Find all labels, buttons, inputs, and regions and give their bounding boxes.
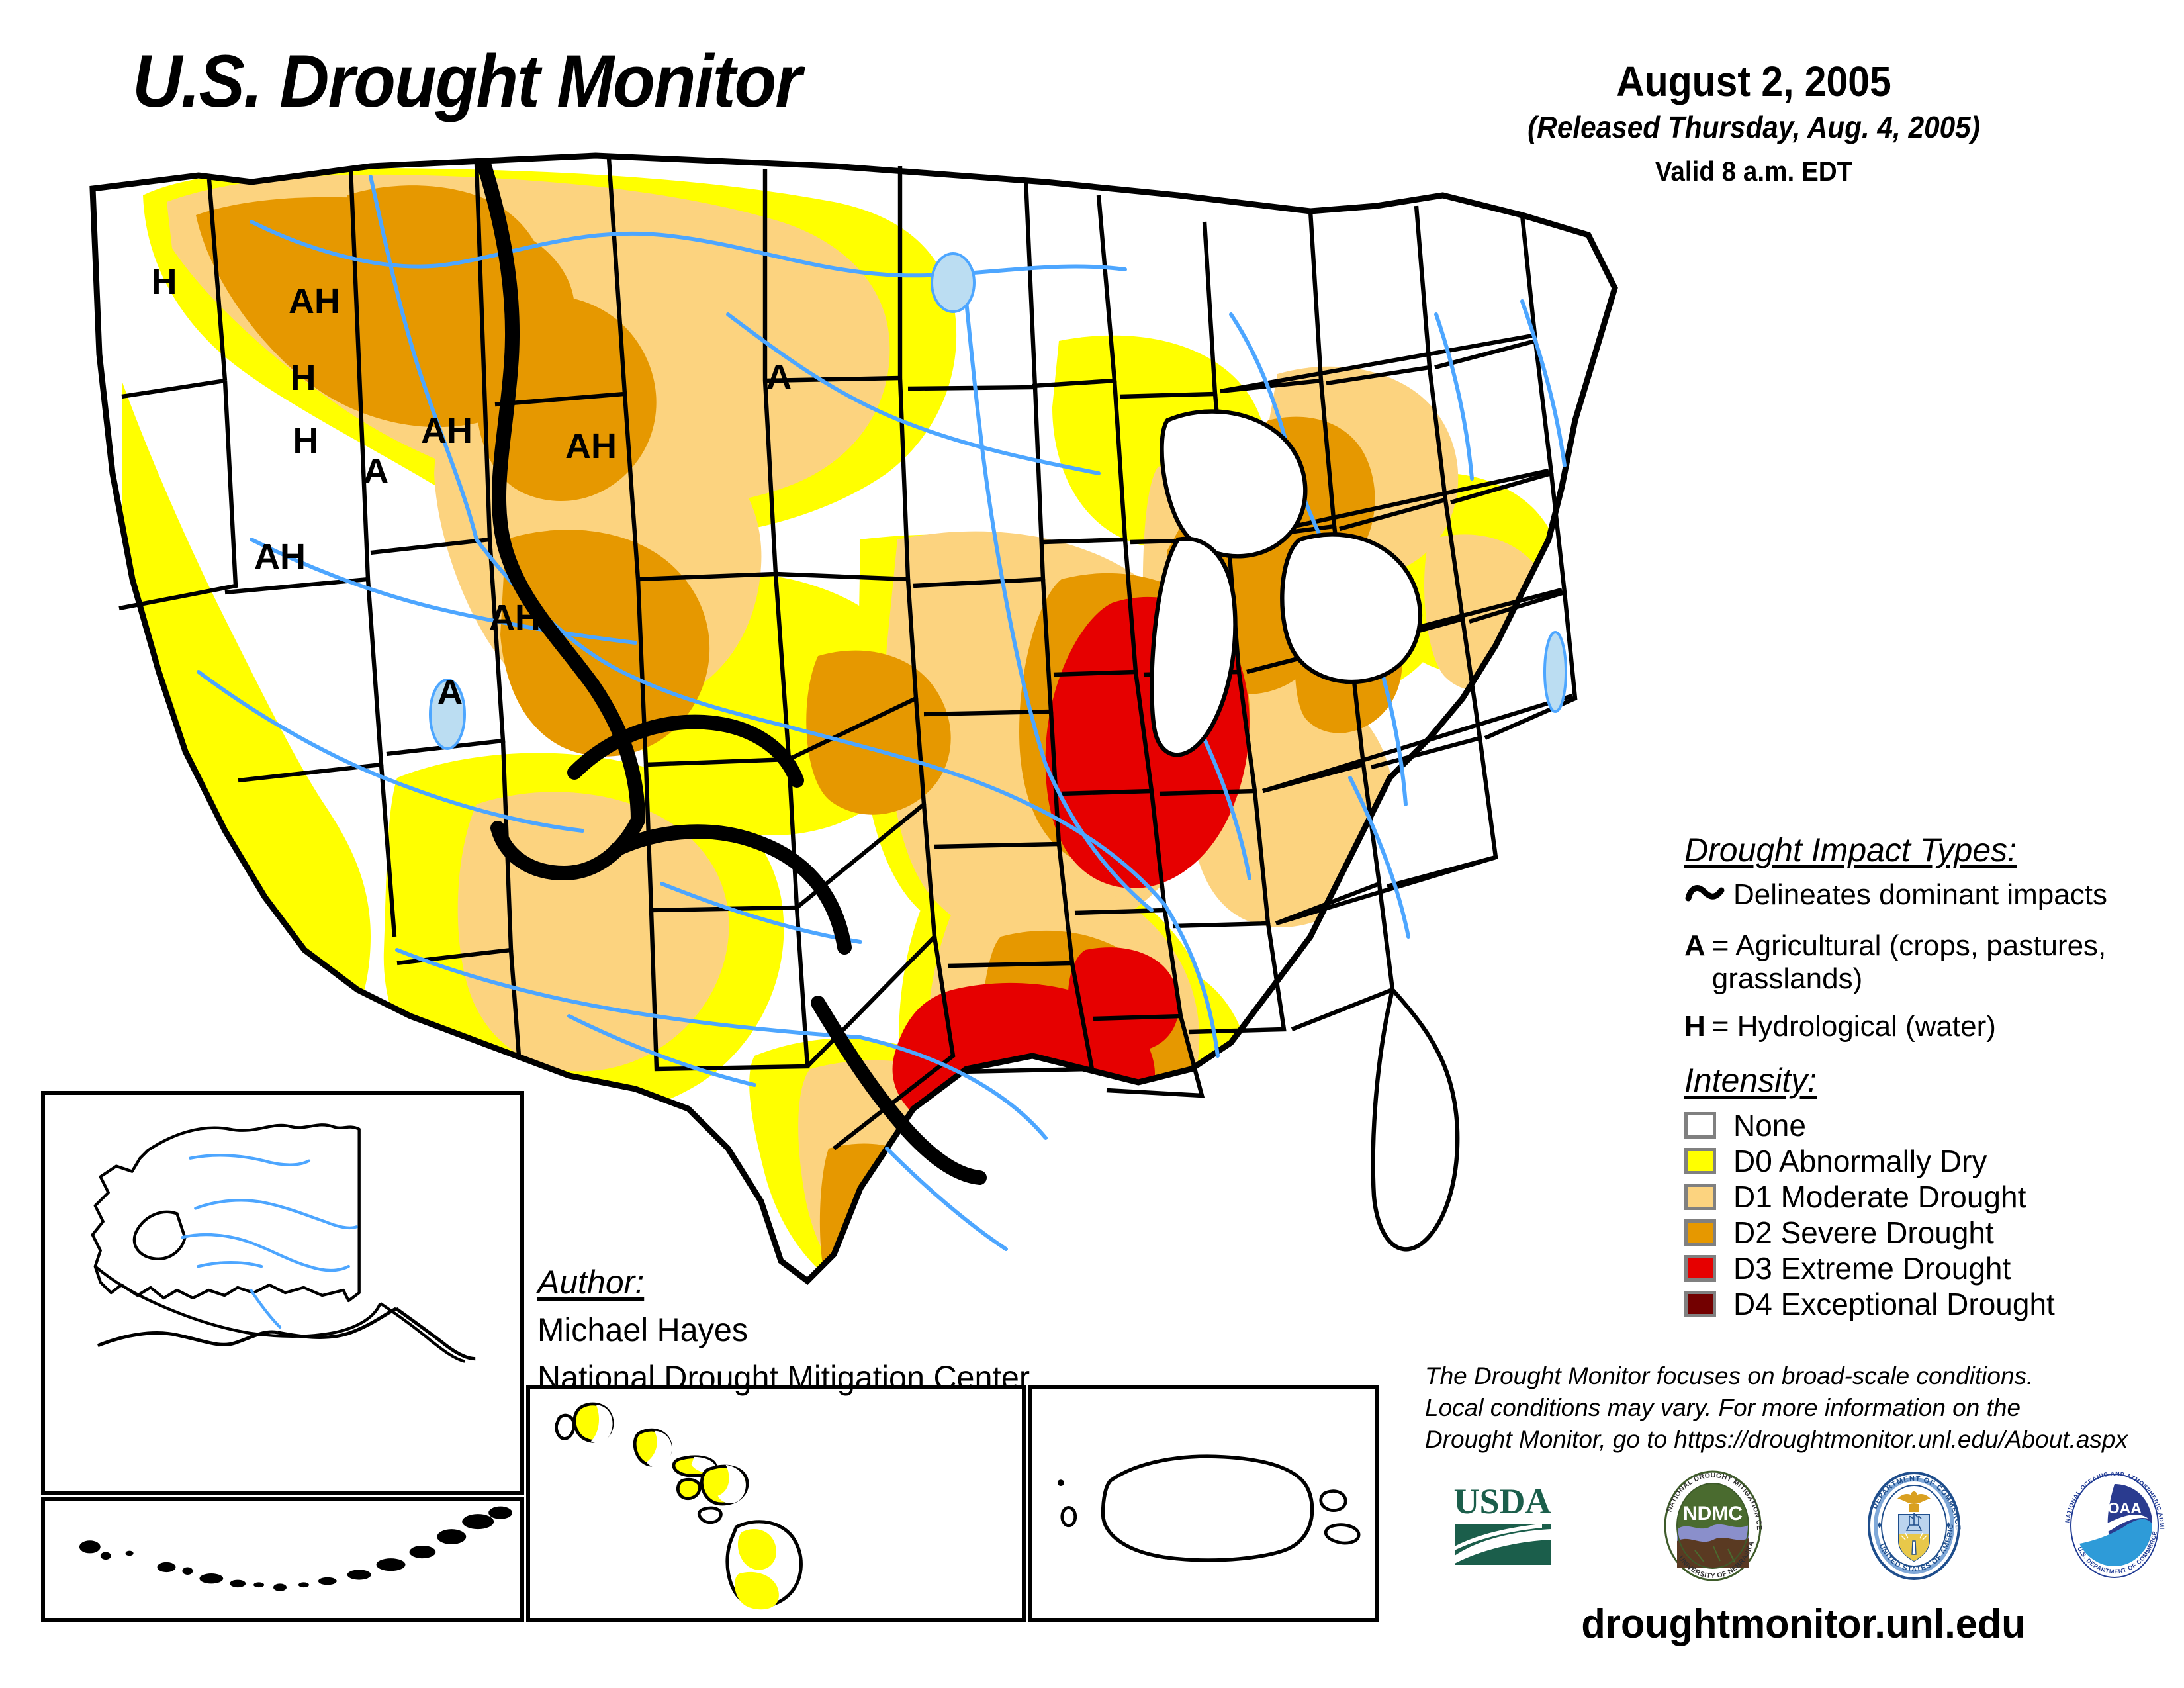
intensity-row-none: None [1684, 1107, 2174, 1143]
release-date: (Released Thursday, Aug. 4, 2005) [1492, 109, 2015, 145]
website-url: droughtmonitor.unl.edu [1451, 1601, 2156, 1648]
swatch-d3 [1684, 1255, 1716, 1282]
intensity-label-d0: D0 Abnormally Dry [1733, 1143, 1987, 1179]
disclaimer-line-2: Local conditions may vary. For more info… [1425, 1392, 2173, 1424]
swatch-d4 [1684, 1291, 1716, 1317]
hawaii-map [530, 1389, 1022, 1618]
impact-row-hydrological: H = Hydrological (water) [1684, 1010, 2174, 1043]
intensity-row-d0: D0 Abnormally Dry [1684, 1143, 2174, 1179]
impact-desc-h: = Hydrological (water) [1712, 1010, 2174, 1043]
impact-types-heading: Drought Impact Types: [1684, 831, 2174, 869]
doc-seal: DEPARTMENT OF COMMERCE UNITED STATES OF … [1858, 1470, 1970, 1585]
inset-aleutian-islands [41, 1497, 524, 1622]
swatch-none [1684, 1112, 1716, 1139]
noaa-logo: NOAA NATIONAL OCEANIC AND ATMOSPHERIC AD… [2058, 1470, 2171, 1585]
squiggle-icon [1684, 878, 1733, 915]
intensity-block: Intensity: None D0 Abnormally Dry D1 Mod… [1684, 1061, 2174, 1322]
impact-types-list: Delineates dominant impacts A = Agricult… [1684, 878, 2174, 1044]
map-date: August 2, 2005 [1492, 60, 2015, 104]
disclaimer-text: The Drought Monitor focuses on broad-sca… [1425, 1360, 2173, 1456]
drought-monitor-page: U.S. Drought Monitor August 2, 2005 (Rel… [0, 0, 2184, 1688]
squiggle-glyph [1684, 881, 1733, 908]
alaska-map [45, 1095, 520, 1491]
logo-row: USDA NDMC NATIONAL DROUG [1436, 1466, 2171, 1589]
coastline-detail [1373, 990, 1457, 1249]
author-affiliation: National Drought Mitigation Center [537, 1358, 1030, 1397]
swatch-d2 [1684, 1219, 1716, 1246]
ndmc-wordmark: NDMC [1683, 1503, 1743, 1524]
ndmc-logo: NDMC NATIONAL DROUGHT MITIGATION CENTER … [1657, 1470, 1769, 1585]
intensity-row-d2: D2 Severe Drought [1684, 1215, 2174, 1250]
inset-hawaii [526, 1385, 1026, 1622]
noaa-wordmark: NOAA [2097, 1499, 2142, 1517]
disclaimer-line-1: The Drought Monitor focuses on broad-sca… [1425, 1360, 2173, 1392]
delineates-label: Delineates dominant impacts [1733, 878, 2174, 912]
usda-wordmark: USDA [1453, 1481, 1551, 1521]
legend-panel: Drought Impact Types: Delineates dominan… [1684, 831, 2174, 1322]
impact-key-h: H [1684, 1010, 1706, 1043]
noaa-logo-graphic: NOAA NATIONAL OCEANIC AND ATMOSPHERIC AD… [2058, 1470, 2171, 1582]
author-name: Michael Hayes [537, 1311, 1030, 1349]
swatch-d0 [1684, 1148, 1716, 1174]
ndmc-logo-graphic: NDMC NATIONAL DROUGHT MITIGATION CENTER … [1657, 1470, 1769, 1582]
intensity-row-d1: D1 Moderate Drought [1684, 1179, 2174, 1215]
disclaimer-line-3: Drought Monitor, go to https://droughtmo… [1425, 1424, 2173, 1456]
impact-row-delineates: Delineates dominant impacts [1684, 878, 2174, 915]
page-title: U.S. Drought Monitor [132, 38, 801, 124]
usda-logo-graphic: USDA [1436, 1476, 1569, 1575]
aleutian-map [45, 1501, 520, 1618]
impact-row-agricultural: A = Agricultural (crops, pastures, grass… [1684, 929, 2174, 996]
intensity-row-d4: D4 Exceptional Drought [1684, 1286, 2174, 1322]
author-heading: Author: [537, 1263, 1045, 1301]
usda-logo: USDA [1436, 1476, 1569, 1579]
intensity-label-none: None [1733, 1107, 1806, 1143]
inset-puerto-rico [1028, 1385, 1379, 1622]
intensity-list: None D0 Abnormally Dry D1 Moderate Droug… [1684, 1107, 2174, 1322]
puerto-rico-map [1032, 1389, 1375, 1618]
inset-alaska [41, 1091, 524, 1495]
impact-desc-a: = Agricultural (crops, pastures, grassla… [1712, 929, 2174, 996]
doc-seal-graphic: DEPARTMENT OF COMMERCE UNITED STATES OF … [1858, 1470, 1970, 1582]
intensity-label-d1: D1 Moderate Drought [1733, 1179, 2026, 1215]
intensity-label-d2: D2 Severe Drought [1733, 1215, 1994, 1250]
intensity-heading: Intensity: [1684, 1061, 2174, 1100]
swatch-d1 [1684, 1184, 1716, 1210]
author-block: Author: Michael Hayes National Drought M… [537, 1263, 1045, 1397]
impact-key-a: A [1684, 929, 1706, 962]
intensity-label-d3: D3 Extreme Drought [1733, 1250, 2011, 1286]
intensity-row-d3: D3 Extreme Drought [1684, 1250, 2174, 1286]
intensity-label-d4: D4 Exceptional Drought [1733, 1286, 2055, 1322]
